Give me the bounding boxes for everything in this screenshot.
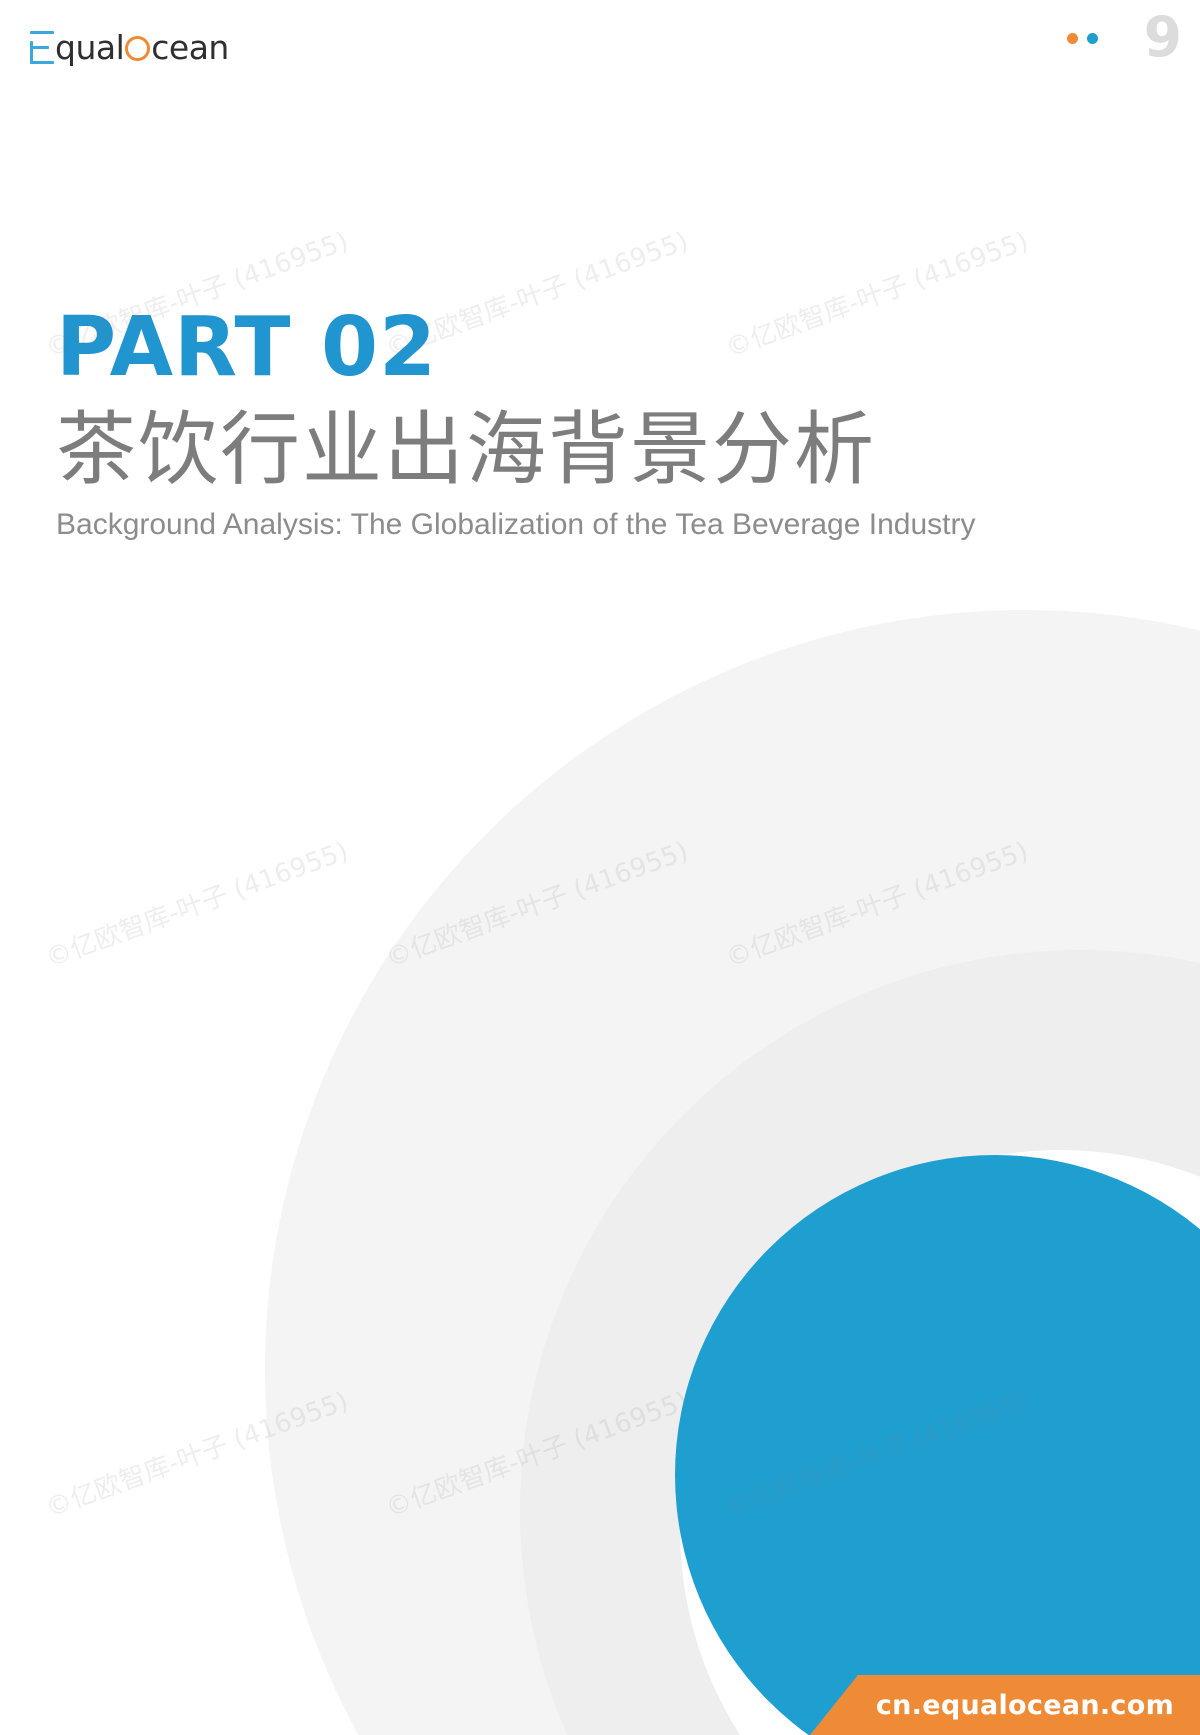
part-label: PART 02 — [56, 300, 1056, 396]
decorative-circle-outer — [265, 610, 1200, 1735]
watermark: ©亿欧智库-叶子 (416955) — [720, 1381, 1033, 1525]
decorative-circle-inner-white — [680, 1150, 1200, 1735]
decorative-circle-blue — [675, 1155, 1200, 1735]
slide-header: qual cean 9 — [0, 0, 1200, 82]
watermark: ©亿欧智库-叶子 (416955) — [720, 831, 1033, 975]
dot-blue-icon — [1087, 33, 1098, 44]
section-title-cn: 茶饮行业出海背景分析 — [56, 402, 1056, 498]
watermark: ©亿欧智库-叶子 (416955) — [380, 831, 693, 975]
logo-letter-e-icon — [30, 31, 54, 64]
slide-footer: cn.equalocean.com — [0, 1675, 1200, 1735]
section-subtitle-en: Background Analysis: The Globalization o… — [56, 504, 1016, 545]
footer-website-url[interactable]: cn.equalocean.com — [876, 1690, 1174, 1722]
decorative-circles-layer — [0, 0, 1200, 1735]
page-number: 9 — [1144, 8, 1182, 66]
logo-letter-o-icon — [125, 36, 150, 61]
title-block: PART 02 茶饮行业出海背景分析 Background Analysis: … — [56, 300, 1056, 545]
slide-root: qual cean 9 PART 02 茶饮行业出海背景分析 Backgroun… — [0, 0, 1200, 1735]
logo-text-after: cean — [151, 31, 229, 64]
logo-text-before: qual — [55, 31, 124, 64]
equalocean-logo[interactable]: qual cean — [30, 20, 229, 64]
decorative-circle-middle — [520, 950, 1200, 1735]
watermark: ©亿欧智库-叶子 (416955) — [40, 1381, 353, 1525]
header-dots — [1067, 33, 1098, 44]
watermark: ©亿欧智库-叶子 (416955) — [380, 1381, 693, 1525]
watermark: ©亿欧智库-叶子 (416955) — [40, 831, 353, 975]
dot-orange-icon — [1067, 33, 1078, 44]
